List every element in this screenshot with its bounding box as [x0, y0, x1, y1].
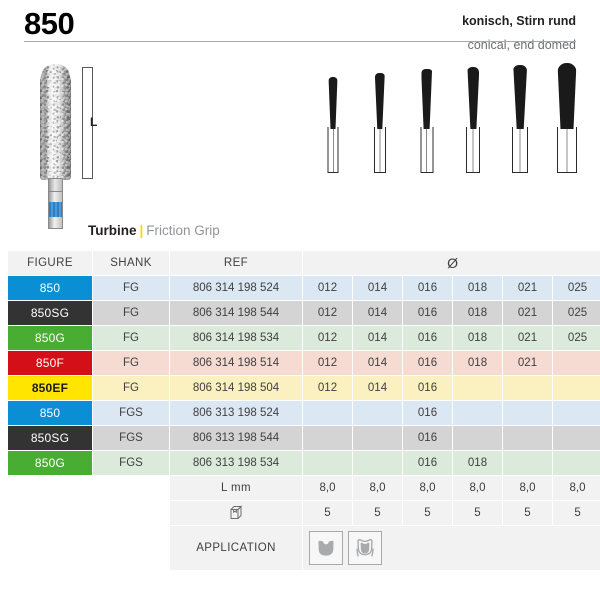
shank-cell: FG [93, 276, 169, 300]
diameter-cell: 014 [353, 301, 402, 325]
silhouette-head [421, 69, 432, 129]
diameter-cell: 018 [453, 326, 502, 350]
header-ref: REF [170, 251, 302, 275]
silhouette-shank [374, 127, 386, 173]
package-value-cell: 5 [403, 501, 452, 525]
length-value-cell: 8,0 [553, 476, 600, 500]
shank-cell: FG [93, 351, 169, 375]
page-title: 850 [24, 6, 74, 42]
shank-cell: FGS [93, 401, 169, 425]
diameter-cell [503, 376, 552, 400]
diameter-cell: 025 [553, 301, 600, 325]
diameter-cell [303, 451, 352, 475]
box-icon [229, 504, 244, 520]
bur-color-code-band [49, 202, 62, 217]
description-german: konisch, Stirn rund [236, 14, 576, 29]
bur-neck [48, 178, 63, 192]
diameter-cell: 021 [503, 326, 552, 350]
diameter-cell: 021 [503, 351, 552, 375]
table-row: 850EFFG806 314 198 504012014016 [8, 376, 600, 400]
diameter-cell [453, 376, 502, 400]
length-value-cell: 8,0 [403, 476, 452, 500]
shank-cell: FG [93, 376, 169, 400]
package-value-cell: 5 [453, 501, 502, 525]
silhouette-shank [328, 127, 339, 173]
silhouette-shank [420, 127, 433, 173]
shank-cell: FG [93, 301, 169, 325]
bur-silhouette [316, 73, 350, 173]
length-label: L [90, 115, 97, 129]
diameter-cell: 014 [353, 376, 402, 400]
length-value-cell: 8,0 [303, 476, 352, 500]
diameter-cell [453, 426, 502, 450]
diameter-cell: 012 [303, 326, 352, 350]
length-row: L mm8,08,08,08,08,08,0 [8, 476, 600, 500]
diameter-cell: 025 [553, 276, 600, 300]
silhouette-head [557, 63, 576, 129]
figure-badge[interactable]: 850SG [8, 301, 92, 325]
page-header: 850 konisch, Stirn rund conical, end dom… [0, 0, 600, 58]
silhouette-shank [557, 127, 577, 173]
bur-size-silhouettes [316, 58, 584, 173]
diameter-cell: 012 [303, 301, 352, 325]
ref-cell: 806 313 198 524 [170, 401, 302, 425]
figure-badge[interactable]: 850SG [8, 426, 92, 450]
figure-badge[interactable]: 850G [8, 326, 92, 350]
diameter-cell [553, 376, 600, 400]
ref-cell: 806 314 198 524 [170, 276, 302, 300]
diameter-cell [353, 426, 402, 450]
illustration-area: L Turbine|Friction Grip [0, 58, 600, 250]
grip-separator: | [140, 223, 144, 238]
figure-badge[interactable]: 850EF [8, 376, 92, 400]
length-row-label: L mm [170, 476, 302, 500]
ref-cell: 806 313 198 534 [170, 451, 302, 475]
silhouette-head [513, 65, 527, 129]
table-row: 850FG806 314 198 524012014016018021025 [8, 276, 600, 300]
diameter-cell [503, 426, 552, 450]
diameter-cell: 012 [303, 276, 352, 300]
silhouette-head [375, 73, 385, 129]
diameter-cell [303, 401, 352, 425]
package-row-label [170, 501, 302, 525]
bur-silhouette [550, 73, 584, 173]
diameter-cell [503, 451, 552, 475]
diameter-cell [353, 451, 402, 475]
shank-cell: FG [93, 326, 169, 350]
diameter-cell: 014 [353, 276, 402, 300]
table-body: 850FG806 314 198 52401201401601802102585… [8, 276, 600, 570]
ref-cell: 806 314 198 514 [170, 351, 302, 375]
table-row: 850GFG806 314 198 534012014016018021025 [8, 326, 600, 350]
diameter-cell: 016 [403, 426, 452, 450]
bur-silhouette [456, 73, 490, 173]
grip-type-label: Turbine|Friction Grip [88, 223, 220, 238]
figure-badge[interactable]: 850 [8, 401, 92, 425]
diameter-cell: 016 [403, 301, 452, 325]
bur-taper-shape [40, 64, 71, 180]
application-icons-cell [303, 526, 600, 570]
diameter-cell: 018 [453, 276, 502, 300]
silhouette-shank [512, 127, 528, 173]
spacer-cell [93, 501, 169, 525]
tooth-cross-section-icon [348, 531, 382, 565]
diameter-cell: 016 [403, 401, 452, 425]
package-value-cell: 5 [553, 501, 600, 525]
bur-main-illustration [38, 64, 74, 229]
package-value-cell: 5 [303, 501, 352, 525]
length-bracket-line [82, 67, 83, 179]
diameter-cell [553, 451, 600, 475]
tooth-crown-prep-icon [309, 531, 343, 565]
figure-badge[interactable]: 850G [8, 451, 92, 475]
bur-silhouette [410, 73, 444, 173]
table-row: 850FFG806 314 198 514012014016018021 [8, 351, 600, 375]
application-row: APPLICATION [8, 526, 600, 570]
diameter-cell: 016 [403, 451, 452, 475]
length-value-cell: 8,0 [453, 476, 502, 500]
diameter-cell: 018 [453, 301, 502, 325]
package-value-cell: 5 [353, 501, 402, 525]
silhouette-head [329, 77, 338, 129]
diameter-cell: 018 [453, 451, 502, 475]
length-value-cell: 8,0 [503, 476, 552, 500]
grip-type-german: Turbine [88, 223, 137, 238]
silhouette-shank [466, 127, 480, 173]
package-value-cell: 5 [503, 501, 552, 525]
diameter-cell: 018 [453, 351, 502, 375]
shank-cell: FGS [93, 426, 169, 450]
spacer-cell [8, 476, 92, 500]
diameter-cell [303, 426, 352, 450]
shank-cell: FGS [93, 451, 169, 475]
header-diameter: Ø [303, 251, 600, 275]
diameter-cell [353, 401, 402, 425]
spacer-cell [8, 526, 92, 570]
header-figure: FIGURE [8, 251, 92, 275]
diameter-cell: 025 [553, 326, 600, 350]
figure-badge[interactable]: 850 [8, 276, 92, 300]
diameter-cell [553, 351, 600, 375]
header-divider [24, 41, 576, 42]
diameter-cell: 016 [403, 326, 452, 350]
ref-cell: 806 314 198 504 [170, 376, 302, 400]
diameter-cell: 016 [403, 276, 452, 300]
table-row: 850FGS806 313 198 524016 [8, 401, 600, 425]
diameter-cell: 016 [403, 351, 452, 375]
spacer-cell [93, 476, 169, 500]
bur-silhouette [363, 73, 397, 173]
diameter-cell [503, 401, 552, 425]
header-shank: SHANK [93, 251, 169, 275]
ref-cell: 806 313 198 544 [170, 426, 302, 450]
application-row-label: APPLICATION [170, 526, 302, 570]
spacer-cell [93, 526, 169, 570]
diameter-cell [553, 426, 600, 450]
diameter-cell [553, 401, 600, 425]
grip-type-english: Friction Grip [146, 223, 220, 238]
table-row: 850SGFGS806 313 198 544016 [8, 426, 600, 450]
diameter-cell: 016 [403, 376, 452, 400]
diameter-cell [453, 401, 502, 425]
package-row: 555555 [8, 501, 600, 525]
specification-table: FIGURE SHANK REF Ø 850FG806 314 198 5240… [7, 250, 600, 571]
table-row: 850GFGS806 313 198 534016018 [8, 451, 600, 475]
table-header-row: FIGURE SHANK REF Ø [8, 251, 600, 275]
ref-cell: 806 314 198 544 [170, 301, 302, 325]
diameter-cell: 021 [503, 301, 552, 325]
diameter-cell: 014 [353, 351, 402, 375]
product-description: konisch, Stirn rund conical, end domed [236, 14, 576, 53]
table-row: 850SGFG806 314 198 544012014016018021025 [8, 301, 600, 325]
diameter-cell: 014 [353, 326, 402, 350]
diameter-cell: 012 [303, 376, 352, 400]
bur-silhouette [503, 73, 537, 173]
length-value-cell: 8,0 [353, 476, 402, 500]
spacer-cell [8, 501, 92, 525]
silhouette-head [467, 67, 479, 129]
ref-cell: 806 314 198 534 [170, 326, 302, 350]
diameter-cell: 021 [503, 276, 552, 300]
figure-badge[interactable]: 850F [8, 351, 92, 375]
diameter-cell: 012 [303, 351, 352, 375]
